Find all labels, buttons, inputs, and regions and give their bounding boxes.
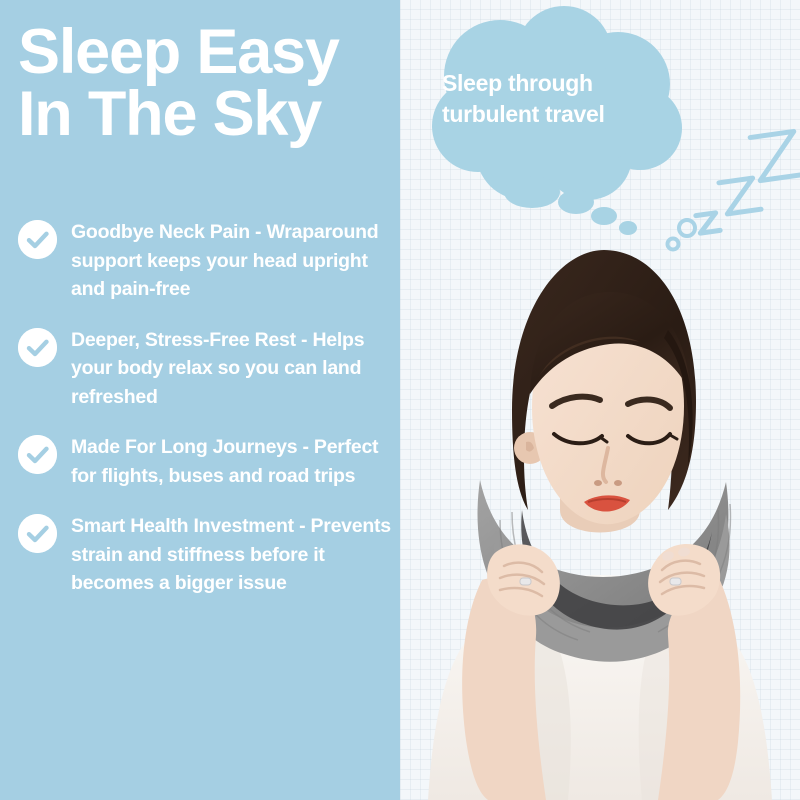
thought-bubble-text: Sleep through turbulent travel xyxy=(442,68,672,130)
sleep-z-marks xyxy=(655,118,800,268)
headline-line-2: In The Sky xyxy=(18,84,388,146)
infographic-canvas: Sleep through turbulent travel Sleep Eas… xyxy=(0,0,800,800)
list-item: Goodbye Neck Pain - Wraparound support k… xyxy=(0,218,400,304)
check-circle-icon xyxy=(18,435,57,474)
list-item: Smart Health Investment - Prevents strai… xyxy=(0,512,400,598)
list-item: Made For Long Journeys - Perfect for fli… xyxy=(0,433,400,490)
page-title: Sleep Easy In The Sky xyxy=(18,22,388,145)
check-circle-icon xyxy=(18,220,57,259)
left-content-panel: Sleep Easy In The Sky Goodbye Neck Pain … xyxy=(0,0,400,800)
bubble-line-1: Sleep through xyxy=(442,68,672,99)
check-circle-icon xyxy=(18,514,57,553)
check-circle-icon xyxy=(18,328,57,367)
list-item-label: Made For Long Journeys - Perfect for fli… xyxy=(71,433,392,490)
bubble-line-2: turbulent travel xyxy=(442,99,672,130)
list-item-label: Deeper, Stress-Free Rest - Helps your bo… xyxy=(71,326,392,412)
headline-line-1: Sleep Easy xyxy=(18,22,388,84)
product-photo xyxy=(400,180,800,800)
list-item-label: Goodbye Neck Pain - Wraparound support k… xyxy=(71,218,392,304)
benefit-list: Goodbye Neck Pain - Wraparound support k… xyxy=(0,218,400,620)
list-item: Deeper, Stress-Free Rest - Helps your bo… xyxy=(0,326,400,412)
list-item-label: Smart Health Investment - Prevents strai… xyxy=(71,512,392,598)
